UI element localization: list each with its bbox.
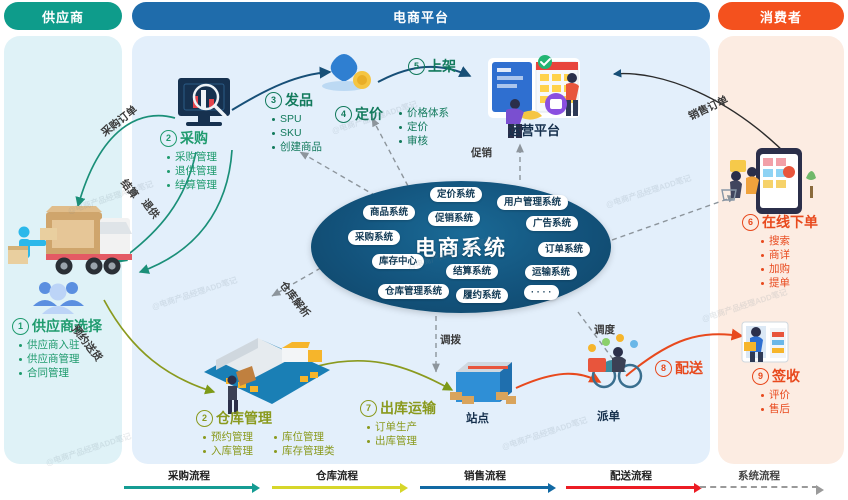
list-item: 出库管理: [366, 434, 436, 448]
legend-bar: [124, 486, 254, 489]
list-item: 采购管理: [166, 150, 217, 164]
step-warehouse-bullets-left: 预约管理 入库管理: [202, 430, 253, 458]
legend-item-delivery-flow: 配送流程: [566, 468, 696, 489]
system-chip-wms[interactable]: 仓库管理系统: [378, 284, 449, 299]
list-item: 提单: [760, 276, 818, 290]
system-chip-user[interactable]: 用户管理系统: [497, 195, 568, 210]
system-chip-pricing[interactable]: 定价系统: [430, 187, 482, 202]
step-online-order-bullets: 搜索 商详 加购 提单: [760, 234, 818, 290]
legend-item-system-flow: 系统流程: [700, 468, 818, 488]
system-chip-purchase[interactable]: 采购系统: [348, 230, 400, 245]
list-item: 商详: [760, 248, 818, 262]
legend-item-sales-flow: 销售流程: [420, 468, 550, 489]
list-item: 审核: [398, 134, 449, 148]
step-delivery[interactable]: 8 配送: [655, 358, 703, 378]
ops-platform-caption: 运营平台: [508, 120, 560, 139]
hub-title: 电商系统: [415, 232, 507, 262]
panel-supplier: [4, 36, 122, 464]
legend-bar: [272, 486, 402, 489]
step-publish[interactable]: 3 发品 SPU SKU 创建商品: [265, 90, 322, 154]
step-publish-title: 发品: [285, 90, 313, 110]
step-online-order[interactable]: 6 在线下单 搜索 商详 加购 提单: [742, 212, 818, 290]
list-item: 结算管理: [166, 178, 217, 192]
list-item: 售后: [760, 402, 800, 416]
column-header-platform: 电商平台: [132, 2, 710, 30]
list-item: 合同管理: [18, 366, 102, 380]
step-publish-number: 3: [265, 92, 282, 109]
arrow-label-scheduling: 调度: [594, 322, 615, 337]
column-header-supplier: 供应商: [4, 2, 122, 30]
legend-bar: [700, 486, 818, 488]
column-header-consumer: 消费者: [718, 2, 844, 30]
column-header-platform-label: 电商平台: [393, 7, 449, 26]
system-chip-more[interactable]: · · · ·: [524, 285, 559, 300]
legend-label: 采购流程: [124, 468, 254, 483]
step-purchase-number: 2: [160, 130, 177, 147]
step-pricing-bullets: 价格体系 定价 审核: [398, 106, 449, 148]
list-item: 定价: [398, 120, 449, 134]
system-chip-ads[interactable]: 广告系统: [526, 216, 578, 231]
step-warehouse-title: 仓库管理: [216, 408, 272, 428]
list-item: 创建商品: [271, 140, 322, 154]
step-sign[interactable]: 9 签收 评价 售后: [752, 366, 800, 416]
system-chip-product[interactable]: 商品系统: [363, 205, 415, 220]
list-item: 搜索: [760, 234, 818, 248]
step-supplier-select-number: 1: [12, 318, 29, 335]
list-item: SPU: [271, 112, 322, 126]
step-warehouse-number: 2: [196, 410, 213, 427]
column-header-supplier-label: 供应商: [42, 7, 84, 26]
station-caption: 站点: [466, 410, 489, 426]
legend-label: 配送流程: [566, 468, 696, 483]
column-header-consumer-label: 消费者: [760, 7, 802, 26]
arrow-label-transfer: 调拨: [440, 332, 461, 347]
step-listing-title: 上架: [428, 56, 456, 76]
legend: 采购流程 仓库流程 销售流程 配送流程 系统流程: [0, 468, 848, 500]
step-outbound-bullets: 订单生产 出库管理: [366, 420, 436, 448]
arrow-label-promotion: 促销: [471, 145, 492, 160]
step-delivery-number: 8: [655, 360, 672, 377]
list-item: 库存管理类: [273, 444, 335, 458]
list-item: 订单生产: [366, 420, 436, 434]
legend-label: 销售流程: [420, 468, 550, 483]
step-listing-number: 5: [408, 58, 425, 75]
step-pricing[interactable]: 4 定价: [335, 104, 383, 124]
step-supplier-select-title: 供应商选择: [32, 316, 102, 336]
diagram-canvas: 供应商 电商平台 消费者: [0, 0, 848, 500]
step-online-order-title: 在线下单: [762, 212, 818, 232]
legend-item-warehouse-flow: 仓库流程: [272, 468, 402, 489]
step-sign-number: 9: [752, 368, 769, 385]
step-pricing-number: 4: [335, 106, 352, 123]
step-outbound-title: 出库运输: [380, 398, 436, 418]
list-item: 预约管理: [202, 430, 253, 444]
system-chip-settle[interactable]: 结算系统: [446, 264, 498, 279]
step-online-order-number: 6: [742, 214, 759, 231]
legend-label: 仓库流程: [272, 468, 402, 483]
step-warehouse[interactable]: 2 仓库管理 预约管理 入库管理 库位管理 库存管理类: [196, 408, 335, 458]
system-chip-fulfill[interactable]: 履约系统: [456, 288, 508, 303]
list-item: 加购: [760, 262, 818, 276]
step-sign-title: 签收: [772, 366, 800, 386]
step-purchase-bullets: 采购管理 退供管理 结算管理: [166, 150, 217, 192]
step-pricing-title: 定价: [355, 104, 383, 124]
system-chip-promo[interactable]: 促销系统: [428, 211, 480, 226]
step-outbound-number: 7: [360, 400, 377, 417]
list-item: 库位管理: [273, 430, 335, 444]
list-item: 入库管理: [202, 444, 253, 458]
rider-caption: 派单: [597, 408, 620, 424]
step-publish-bullets: SPU SKU 创建商品: [271, 112, 322, 154]
legend-label: 系统流程: [700, 468, 818, 483]
system-chip-order[interactable]: 订单系统: [538, 242, 590, 257]
legend-bar: [566, 486, 696, 489]
list-item: SKU: [271, 126, 322, 140]
system-chip-transport[interactable]: 运输系统: [525, 265, 577, 280]
legend-bar: [420, 486, 550, 489]
step-sign-bullets: 评价 售后: [760, 388, 800, 416]
system-chip-inventory[interactable]: 库存中心: [372, 254, 424, 269]
list-item: 价格体系: [398, 106, 449, 120]
step-delivery-title: 配送: [675, 358, 703, 378]
legend-item-purchase-flow: 采购流程: [124, 468, 254, 489]
list-item: 退供管理: [166, 164, 217, 178]
step-listing[interactable]: 5 上架: [408, 56, 456, 76]
step-outbound[interactable]: 7 出库运输 订单生产 出库管理: [360, 398, 436, 448]
list-item: 评价: [760, 388, 800, 402]
step-purchase[interactable]: 2 采购 采购管理 退供管理 结算管理: [160, 128, 217, 192]
step-warehouse-bullets-right: 库位管理 库存管理类: [273, 430, 335, 458]
step-purchase-title: 采购: [180, 128, 208, 148]
